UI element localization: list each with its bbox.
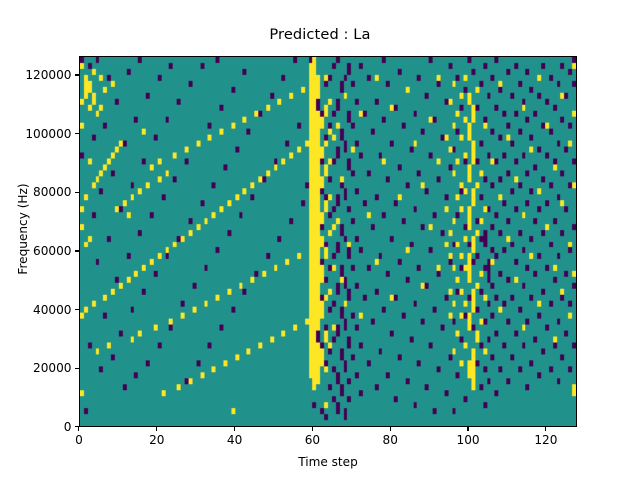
y-tick: 40000 [0,303,79,317]
x-tick-mark [545,427,546,431]
x-tick-label: 100 [438,433,498,447]
heatmap-axes [79,56,577,427]
x-tick-mark [390,427,391,431]
x-tick-label: 40 [205,433,265,447]
x-axis-label: Time step [79,455,577,469]
y-tick: 80000 [0,185,79,199]
x-tick-label: 120 [516,433,576,447]
y-tick: 100000 [0,127,79,141]
x-tick-mark [78,427,79,431]
heatmap-image [80,57,576,426]
x-tick-label: 60 [282,433,342,447]
y-axis-label: Frequency (Hz) [16,43,30,415]
y-tick: 120000 [0,68,79,82]
y-tick-label: 20000 [33,361,71,375]
x-tick-mark [156,427,157,431]
y-tick: 0 [0,420,79,434]
y-tick-label: 0 [64,420,72,434]
x-tick-mark [312,427,313,431]
y-tick-label: 120000 [25,68,71,82]
x-tick-label: 20 [127,433,187,447]
y-tick-label: 40000 [33,303,71,317]
x-tick-label: 80 [360,433,420,447]
y-tick-label: 80000 [33,185,71,199]
y-tick: 60000 [0,244,79,258]
y-tick: 20000 [0,361,79,375]
y-tick-label: 60000 [33,244,71,258]
x-tick-mark [234,427,235,431]
matplotlib-figure: Predicted : La Frequency (Hz) 0200004000… [0,0,640,480]
x-tick-mark [467,427,468,431]
y-tick-label: 100000 [25,127,71,141]
x-tick-label: 0 [49,433,109,447]
chart-title: Predicted : La [0,26,640,44]
